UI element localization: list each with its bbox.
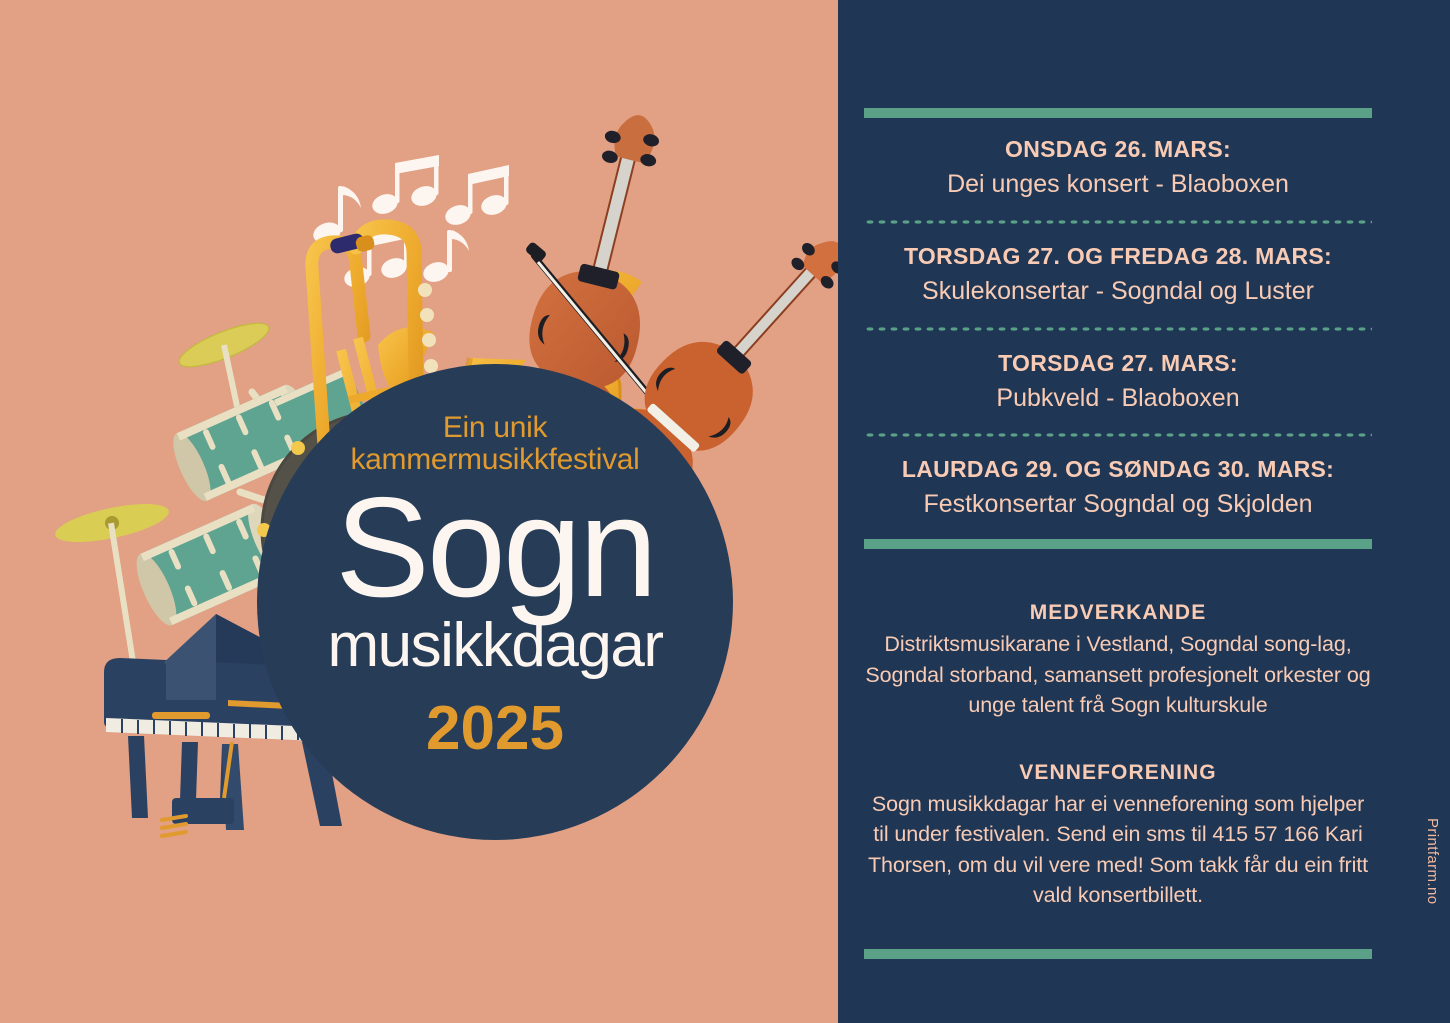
venneforening-block: VENNEFORENING Sogn musikkdagar har ei ve… <box>864 761 1372 911</box>
medverkande-body: Distriktsmusikarane i Vestland, Sogndal … <box>864 629 1372 721</box>
venneforening-body: Sogn musikkdagar har ei venneforening so… <box>864 789 1372 911</box>
event-name: Dei unges konsert - Blaoboxen <box>864 168 1372 202</box>
info-panel: ONSDAG 26. MARS: Dei unges konsert - Bla… <box>838 0 1450 1023</box>
event-date: TORSDAG 27. MARS: <box>864 348 1372 379</box>
event-item: LAURDAG 29. OG SØNDAG 30. MARS: Festkons… <box>864 438 1372 539</box>
music-note-icon <box>421 230 469 285</box>
logo-title: Sogn <box>335 486 655 611</box>
logo-tagline: Ein unik kammermusikkfestival <box>315 412 675 476</box>
event-name: Festkonsertar Sogndal og Skjolden <box>864 488 1372 522</box>
medverkande-heading: MEDVERKANDE <box>864 601 1372 625</box>
event-item: ONSDAG 26. MARS: Dei unges konsert - Bla… <box>864 118 1372 219</box>
music-note-icon <box>443 165 510 228</box>
medverkande-block: MEDVERKANDE Distriktsmusikarane i Vestla… <box>864 601 1372 721</box>
event-date: TORSDAG 27. OG FREDAG 28. MARS: <box>864 241 1372 272</box>
divider-bar-bottom <box>864 949 1372 959</box>
logo-subtitle: musikkdagar <box>328 617 663 676</box>
logo-year: 2025 <box>426 693 564 764</box>
event-item: TORSDAG 27. MARS: Pubkveld - Blaoboxen <box>864 332 1372 433</box>
music-note-icon <box>370 155 440 217</box>
divider-bar-middle <box>864 539 1372 549</box>
event-item: TORSDAG 27. OG FREDAG 28. MARS: Skulekon… <box>864 225 1372 326</box>
venneforening-heading: VENNEFORENING <box>864 761 1372 785</box>
poster-root: Ein unik kammermusikkfestival Sogn musik… <box>0 0 1450 1023</box>
event-date: ONSDAG 26. MARS: <box>864 134 1372 165</box>
divider-bar-top <box>864 108 1372 118</box>
printer-credit: Printfarm.no <box>1424 818 1441 905</box>
event-name: Skulekonsertar - Sogndal og Luster <box>864 275 1372 309</box>
event-date: LAURDAG 29. OG SØNDAG 30. MARS: <box>864 454 1372 485</box>
festival-logo: Ein unik kammermusikkfestival Sogn musik… <box>257 364 733 840</box>
event-name: Pubkveld - Blaoboxen <box>864 382 1372 416</box>
